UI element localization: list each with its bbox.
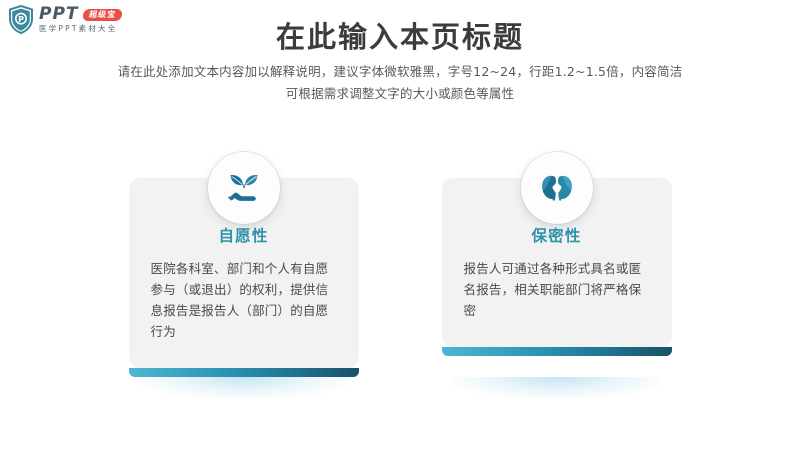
card-glow <box>139 377 349 399</box>
subtitle-line-1: 请在此处添加文本内容加以解释说明，建议字体微软雅黑，字号12~24，行距1.2~… <box>0 61 800 83</box>
card-confidentiality[interactable]: 保密性 报告人可通过各种形式具名或匿名报告，相关职能部门将严格保密 <box>442 152 672 377</box>
subtitle-block: 请在此处添加文本内容加以解释说明，建议字体微软雅黑，字号12~24，行距1.2~… <box>0 61 800 105</box>
card-text: 医院各科室、部门和个人有自愿参与（或退出）的权利，提供信息报告是报告人（部门）的… <box>145 258 343 342</box>
card-voluntariness[interactable]: 自愿性 医院各科室、部门和个人有自愿参与（或退出）的权利，提供信息报告是报告人（… <box>129 152 359 377</box>
card-accent-bar <box>442 347 672 356</box>
card-text: 报告人可通过各种形式具名或匿名报告，相关职能部门将严格保密 <box>458 258 656 321</box>
slide-canvas: P PPT 超级宝 医学PPT素材大全 在此输入本页标题 请在此处添加文本内容加… <box>0 0 800 450</box>
card-accent-bar <box>129 368 359 377</box>
page-title: 在此输入本页标题 <box>0 14 800 56</box>
hand-holding-plant-icon <box>208 152 280 224</box>
subtitle-line-2: 可根据需求调整文字的大小或颜色等属性 <box>0 83 800 105</box>
kidneys-icon <box>521 152 593 224</box>
card-glow <box>452 377 662 399</box>
card-heading: 自愿性 <box>145 224 343 246</box>
cards-row: 自愿性 医院各科室、部门和个人有自愿参与（或退出）的权利，提供信息报告是报告人（… <box>0 152 800 377</box>
card-heading: 保密性 <box>458 224 656 246</box>
